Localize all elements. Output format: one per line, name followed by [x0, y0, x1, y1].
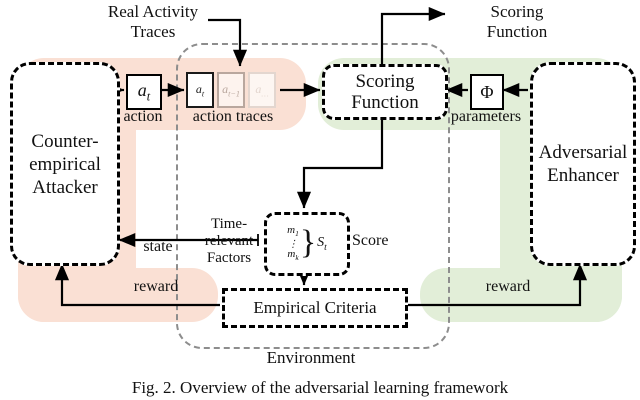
- action-trace-symbol-0: at: [196, 82, 204, 98]
- environment-label: Environment: [176, 348, 446, 368]
- enhancer-label: AdversarialEnhancer: [539, 141, 628, 187]
- figure-canvas: Environment R: [0, 0, 640, 400]
- score-symbol: St: [317, 235, 327, 253]
- action-trace-cell-current[interactable]: at: [186, 72, 214, 108]
- factors-line1: Time-: [211, 216, 247, 232]
- reward-right-label: reward: [470, 278, 546, 296]
- action-trace-cell-older[interactable]: a…: [248, 72, 276, 108]
- factors-inner: m1 ⋮ mk } St: [267, 215, 347, 273]
- action-symbol: at: [138, 80, 150, 105]
- action-traces-caption: action traces: [178, 108, 288, 126]
- figure-caption: Fig. 2. Overview of the adversarial lear…: [0, 378, 640, 398]
- state-label: state: [128, 238, 188, 256]
- parameters-caption: parameters: [440, 108, 532, 126]
- time-relevant-factors-box[interactable]: m1 ⋮ mk } St: [264, 212, 350, 276]
- action-symbol-box[interactable]: at: [126, 74, 162, 110]
- action-trace-symbol-1: at−1: [222, 82, 240, 98]
- real-activity-traces-label: Real Activity Traces: [78, 2, 228, 42]
- factors-line2: relevant: [205, 233, 253, 249]
- time-relevant-factors-label: Time- relevant Factors: [196, 216, 262, 267]
- scoring-output-line1: Scoring: [491, 2, 544, 21]
- counter-empirical-attacker-box[interactable]: Counter-empiricalAttacker: [10, 62, 120, 266]
- adversarial-enhancer-box[interactable]: AdversarialEnhancer: [530, 62, 636, 266]
- real-activity-traces-line2: Traces: [131, 22, 176, 41]
- factors-line3: Factors: [207, 250, 251, 266]
- attacker-label: Counter-empiricalAttacker: [29, 130, 101, 199]
- scoring-function-output-label: Scoring Function: [452, 2, 582, 42]
- action-trace-symbol-2: a…: [255, 82, 268, 98]
- scoring-function-label: ScoringFunction: [351, 71, 419, 113]
- scoring-function-box[interactable]: ScoringFunction: [322, 64, 448, 120]
- factors-m-stack: m1 ⋮ mk: [287, 225, 299, 262]
- factor-m1: m1: [287, 225, 299, 239]
- real-activity-traces-line1: Real Activity: [108, 2, 198, 21]
- empirical-criteria-label: Empirical Criteria: [253, 298, 376, 318]
- action-trace-cell-previous[interactable]: at−1: [217, 72, 245, 108]
- factors-brace: }: [300, 226, 316, 260]
- phi-parameters-box[interactable]: Φ: [470, 74, 504, 110]
- phi-symbol: Φ: [480, 82, 493, 103]
- score-caption: Score: [352, 232, 412, 250]
- reward-left-label: reward: [118, 278, 194, 296]
- scoring-output-line2: Function: [487, 22, 547, 41]
- factor-mk: mk: [287, 249, 298, 263]
- empirical-criteria-box[interactable]: Empirical Criteria: [222, 288, 408, 328]
- action-traces-strip[interactable]: at at−1 a…: [186, 72, 278, 108]
- action-caption: action: [113, 108, 173, 126]
